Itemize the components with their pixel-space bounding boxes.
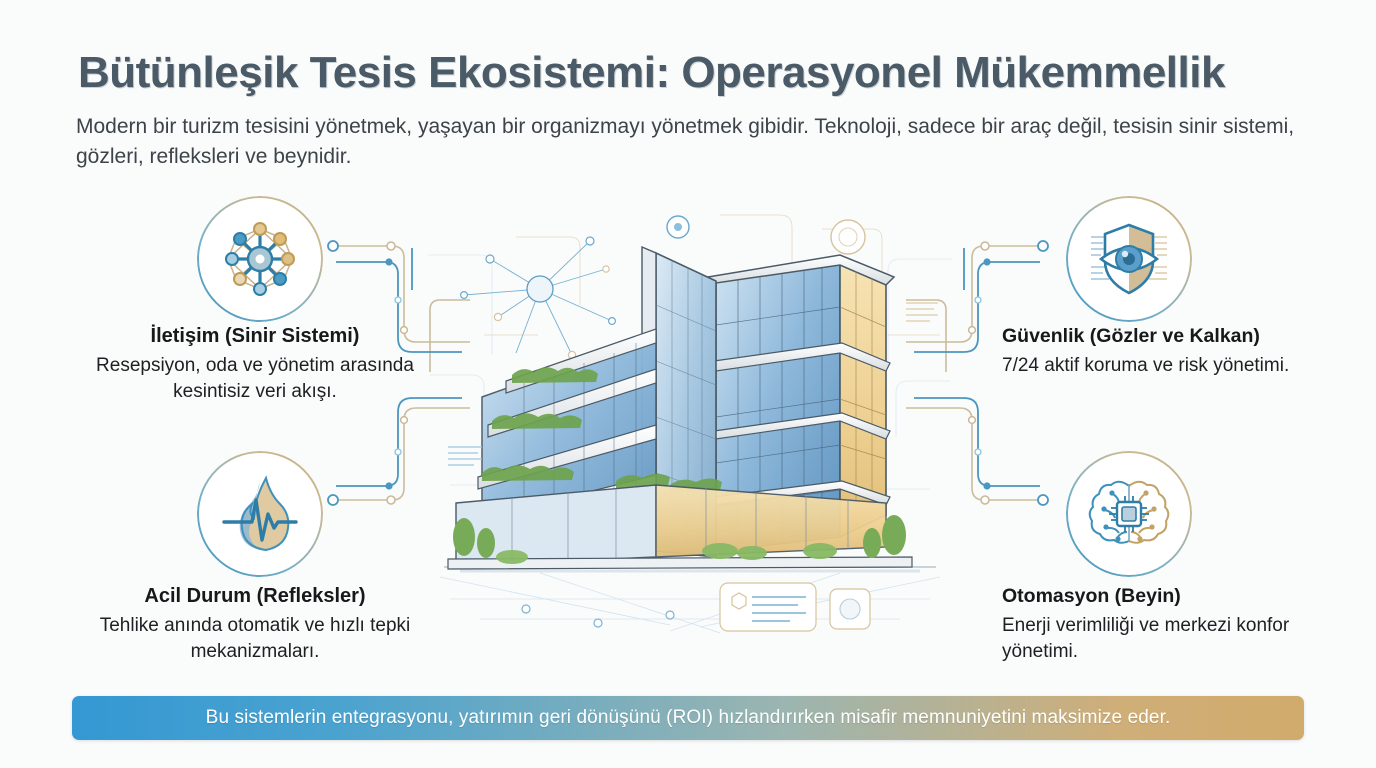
summary-banner-text: Bu sistemlerin entegrasyonu, yatırımın g… [206, 707, 1171, 729]
feature-title-otomasyon: Otomasyon (Beyin) [1002, 585, 1332, 608]
feature-desc-guvenlik: 7/24 aktif koruma ve risk yönetimi. [1002, 353, 1332, 379]
brain-chip-icon [1066, 451, 1192, 577]
feature-acil-durum: Acil Durum (Refleksler) Tehlike anında o… [90, 585, 420, 665]
feature-title-iletisim: İletişim (Sinir Sistemi) [90, 325, 420, 348]
shield-eye-icon [1066, 196, 1192, 322]
smart-building-illustration [420, 185, 960, 635]
feature-title-guvenlik: Güvenlik (Gözler ve Kalkan) [1002, 325, 1332, 348]
page-subtitle: Modern bir turizm tesisini yönetmek, yaş… [76, 112, 1306, 172]
feature-iletisim: İletişim (Sinir Sistemi) Resepsiyon, oda… [90, 325, 420, 405]
feature-otomasyon: Otomasyon (Beyin) Enerji verimliliği ve … [1002, 585, 1332, 665]
feature-title-acil-durum: Acil Durum (Refleksler) [90, 585, 420, 608]
network-nodes-icon [197, 196, 323, 322]
feature-desc-acil-durum: Tehlike anında otomatik ve hızlı tepki m… [90, 613, 420, 665]
feature-desc-iletisim: Resepsiyon, oda ve yönetim arasında kesi… [90, 353, 420, 405]
feature-desc-otomasyon: Enerji verimliliği ve merkezi konfor yön… [1002, 613, 1332, 665]
summary-banner: Bu sistemlerin entegrasyonu, yatırımın g… [72, 696, 1304, 740]
feature-guvenlik: Güvenlik (Gözler ve Kalkan) 7/24 aktif k… [1002, 325, 1332, 379]
slide-root: Bütünleşik Tesis Ekosistemi: Operasyonel… [0, 0, 1376, 768]
page-title: Bütünleşik Tesis Ekosistemi: Operasyonel… [78, 48, 1318, 98]
flame-pulse-icon [197, 451, 323, 577]
